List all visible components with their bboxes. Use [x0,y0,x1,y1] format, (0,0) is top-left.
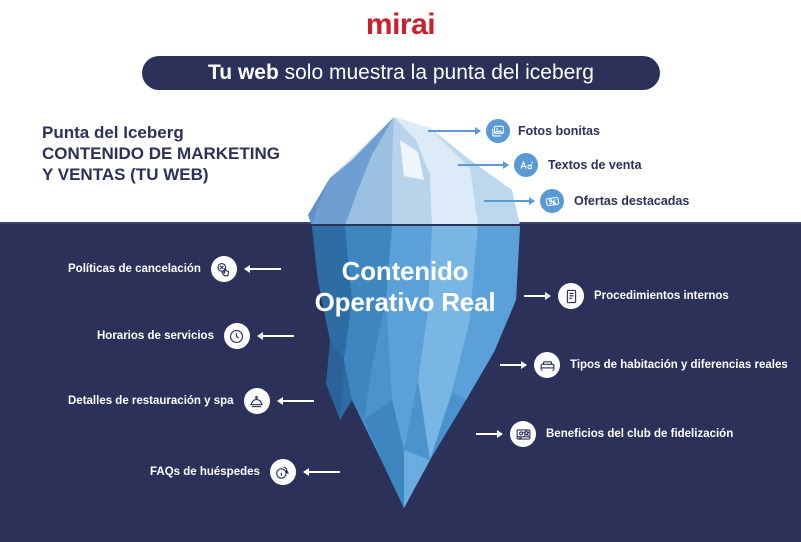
tip-heading-line-3: Y VENTAS (TU WEB) [42,164,342,185]
infographic-canvas: mirai Tu web solo muestra la punta del i… [0,0,801,542]
headline-rest: solo muestra la punta del iceberg [279,61,594,84]
tip-heading-line-2: CONTENIDO DE MARKETING [42,143,342,164]
document-list-icon [558,283,584,309]
connector-line [245,268,281,270]
discount-tag-icon [540,189,564,213]
connector-line [524,295,550,297]
tip-heading: Punta del Iceberg CONTENIDO DE MARKETING… [42,122,342,185]
callout-faqs-de-huespedes: FAQs de huéspedes [150,459,340,485]
callout-label: Detalles de restauración y spa [68,395,234,407]
callout-fotos-bonitas: Fotos bonitas [428,119,600,143]
callout-politicas-de-cancelacion: Políticas de cancelación [68,256,281,282]
callout-horarios-de-servicios: Horarios de servicios [97,323,294,349]
callout-tipos-de-habitacion: Tipos de habitación y diferencias reales [500,352,788,378]
tip-heading-line-1: Punta del Iceberg [42,122,342,143]
iceberg-title: Contenido Operativo Real [255,256,555,318]
mirai-logo: mirai [0,8,801,42]
callout-label: Tipos de habitación y diferencias reales [570,359,788,371]
callout-label: Textos de venta [548,158,642,172]
loyalty-card-star-icon [510,421,536,447]
connector-line [484,200,534,202]
connector-line [258,335,294,337]
callout-label: Beneficios del club de fidelización [546,428,733,440]
info-question-icon [270,459,296,485]
headline-bold: Tu web [208,61,279,84]
connector-line [500,364,526,366]
connector-line [428,130,480,132]
callout-detalles-de-restauracion-y-spa: Detalles de restauración y spa [68,388,314,414]
callout-label: Ofertas destacadas [574,194,689,208]
text-aa-icon [514,153,538,177]
waterline-divider [0,222,801,224]
callout-beneficios-del-club: Beneficios del club de fidelización [476,421,733,447]
connector-line [476,433,502,435]
callout-textos-de-venta: Textos de venta [458,153,642,177]
callout-label: Fotos bonitas [518,124,600,138]
connector-line [458,164,508,166]
callout-ofertas-destacadas: Ofertas destacadas [484,189,689,213]
click-cancel-icon [211,256,237,282]
callout-procedimientos-internos: Procedimientos internos [524,283,729,309]
photos-icon [486,119,510,143]
room-service-icon [244,388,270,414]
callout-label: FAQs de huéspedes [150,466,260,478]
callout-label: Horarios de servicios [97,330,214,342]
clock-icon [224,323,250,349]
connector-line [278,400,314,402]
iceberg-title-line-2: Operativo Real [255,287,555,318]
bed-icon [534,352,560,378]
connector-line [304,471,340,473]
headline-banner: Tu web solo muestra la punta del iceberg [142,56,660,90]
callout-label: Procedimientos internos [594,290,729,302]
iceberg-title-line-1: Contenido [255,256,555,287]
callout-label: Políticas de cancelación [68,263,201,275]
